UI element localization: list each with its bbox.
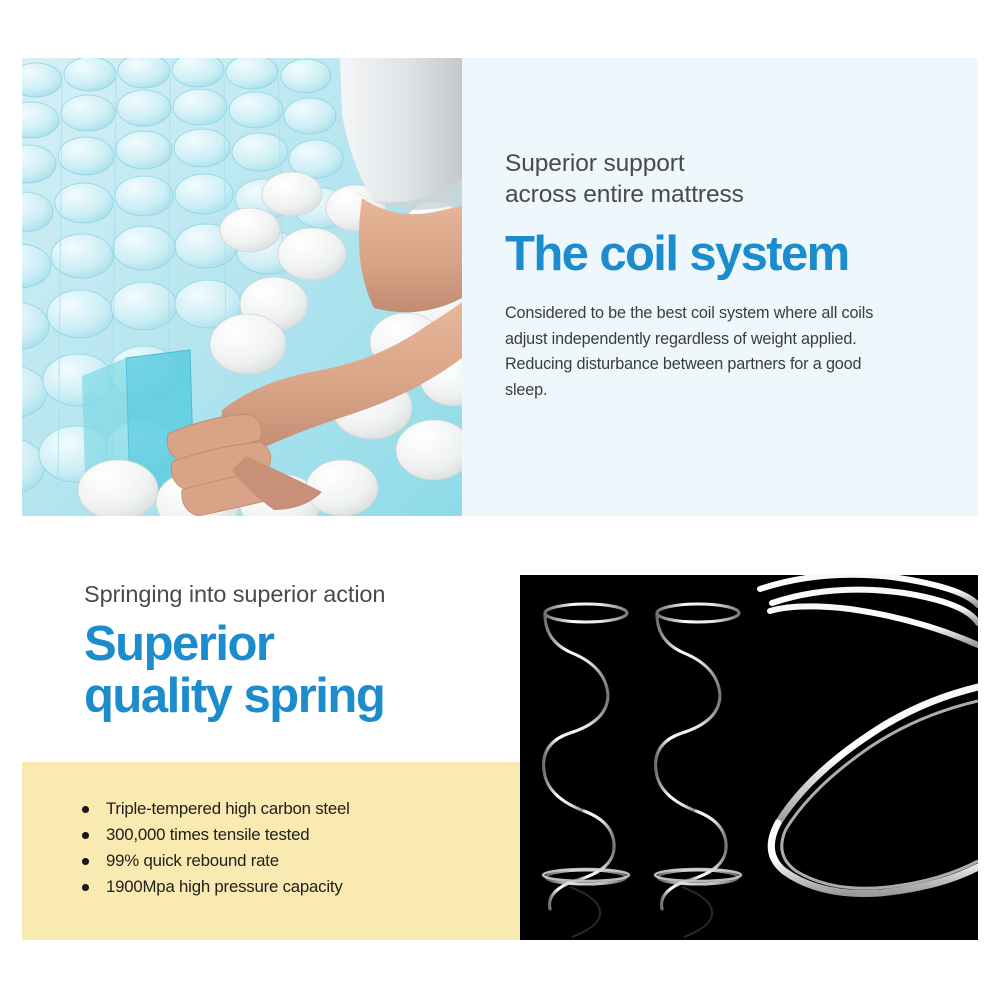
- quality-spring-section: Springing into superior action Superior …: [0, 516, 1000, 1000]
- quality-spring-eyebrow: Springing into superior action: [84, 579, 504, 609]
- list-item: 300,000 times tensile tested: [80, 822, 500, 848]
- infographic-page: Superior support across entire mattress …: [0, 0, 1000, 1000]
- list-item: Triple-tempered high carbon steel: [80, 796, 500, 822]
- coil-system-headline: The coil system: [505, 226, 905, 282]
- coil-system-eyebrow: Superior support across entire mattress: [505, 148, 905, 210]
- quality-spring-copy: Springing into superior action Superior …: [84, 579, 504, 722]
- coil-system-body: Considered to be the best coil system wh…: [505, 301, 877, 403]
- spring-features-list: Triple-tempered high carbon steel 300,00…: [80, 796, 500, 900]
- list-item: 99% quick rebound rate: [80, 848, 500, 874]
- list-item: 1900Mpa high pressure capacity: [80, 874, 500, 900]
- quality-spring-headline: Superior quality spring: [84, 618, 504, 722]
- steel-springs-photo: [520, 575, 978, 940]
- coil-system-section: Superior support across entire mattress …: [22, 58, 978, 516]
- pocket-spring-coils-photo: [22, 58, 462, 516]
- spring-features-box: Triple-tempered high carbon steel 300,00…: [22, 762, 520, 940]
- coil-system-copy: Superior support across entire mattress …: [505, 148, 905, 403]
